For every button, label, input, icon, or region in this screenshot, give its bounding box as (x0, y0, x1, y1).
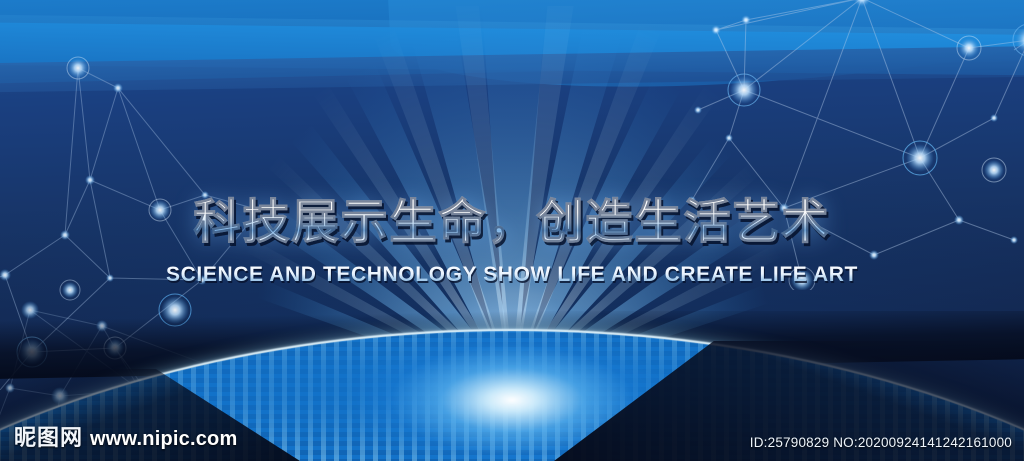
globe-flare (302, 311, 722, 461)
watermark-logo: 昵图网 (14, 420, 83, 452)
top-ribbon-curve (386, 0, 1024, 101)
page-subtitle: SCIENCE AND TECHNOLOGY SHOW LIFE AND CRE… (0, 263, 1024, 287)
banner-canvas: 科技展示生命，创造生活艺术 SCIENCE AND TECHNOLOGY SHO… (0, 0, 1024, 461)
page-title: 科技展示生命，创造生活艺术 (0, 196, 1024, 248)
asset-id-label: ID:25790829 NO:20200924141242161000 (750, 435, 1012, 450)
top-ribbon-shadow (0, 32, 1024, 108)
watermark: 昵图网 www.nipic.com (14, 420, 237, 452)
top-ribbon-highlight (0, 0, 1024, 100)
watermark-url: www.nipic.com (90, 428, 237, 451)
top-ribbon-primary (0, 0, 1024, 84)
top-ribbon-secondary (0, 8, 1024, 91)
